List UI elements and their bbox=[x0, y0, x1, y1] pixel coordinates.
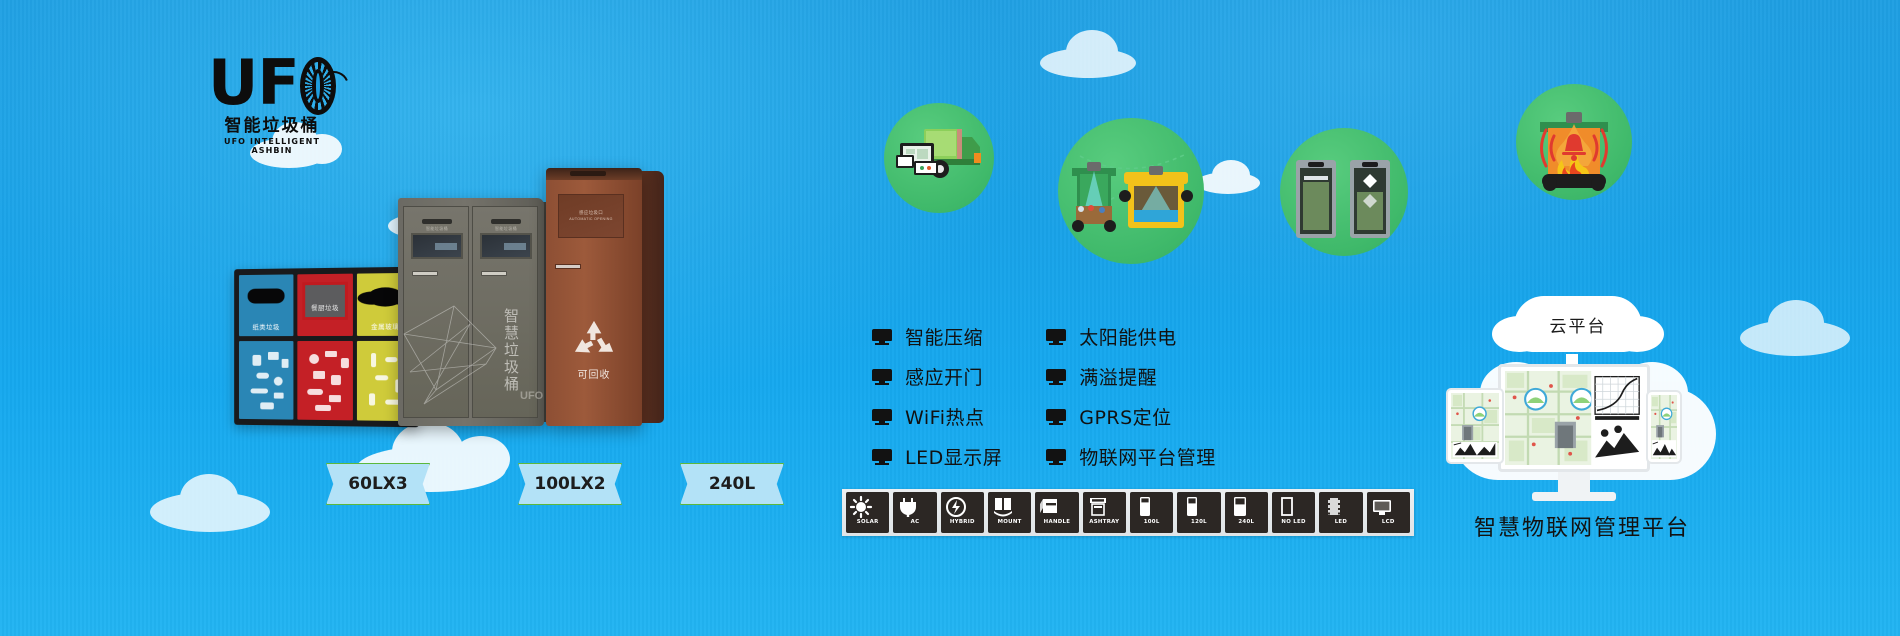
monitor-icon bbox=[872, 369, 892, 385]
fill-level-sensor-icon bbox=[1058, 118, 1204, 264]
compartment-top: 纸类垃圾 bbox=[239, 274, 293, 336]
bin-side-text: 智慧垃圾桶 bbox=[501, 308, 522, 393]
feature-column-right: 太阳能供电 满溢提醒 GPRS定位 物联网平台管理 bbox=[1046, 323, 1216, 470]
panel-caption-main: 感应垃圾口 bbox=[559, 209, 623, 216]
spec-label: LED bbox=[1335, 519, 1348, 526]
spec-label: 240L bbox=[1238, 519, 1254, 526]
smartphone-device bbox=[1646, 390, 1682, 464]
marketing-banner: UF 智能垃圾桶 UFO INTELLIGENT ASHBIN 纸类垃圾 bbox=[0, 0, 1900, 636]
spec-item-led[interactable]: LED bbox=[1319, 492, 1362, 533]
capacity-label-100lx2: 100LX2 bbox=[518, 463, 622, 505]
spec-item-lcd[interactable]: LCD bbox=[1367, 492, 1410, 533]
logo-letters: UF bbox=[208, 55, 299, 111]
feature-label: 智能压缩 bbox=[905, 323, 983, 350]
monitor-icon bbox=[1046, 329, 1066, 345]
recycle-label: 可回收 bbox=[546, 366, 642, 381]
spec-label: NO LED bbox=[1281, 519, 1305, 526]
spec-label: AC bbox=[911, 519, 920, 526]
feature-circle-compaction bbox=[1280, 128, 1408, 256]
ashtray-icon bbox=[1083, 495, 1126, 519]
monitor-icon bbox=[1046, 449, 1066, 465]
handle-icon bbox=[1035, 495, 1078, 519]
feature-list: 智能压缩 感应开门 WiFi热点 LED显示屏 太阳能供电 bbox=[872, 323, 1302, 470]
platform-caption: 智慧物联网管理平台 bbox=[1432, 510, 1732, 542]
led-display-icon bbox=[411, 233, 463, 259]
spec-icon-strip: SOLAR AC HYBRID bbox=[842, 489, 1414, 536]
desktop-monitor bbox=[1498, 364, 1650, 472]
feature-item: 物联网平台管理 bbox=[1046, 443, 1216, 470]
door-handle-icon bbox=[555, 264, 581, 269]
compartment-label: 餐厨垃圾 bbox=[297, 302, 353, 312]
feature-item: 感应开门 bbox=[872, 363, 1002, 390]
spec-label: MOUNT bbox=[998, 519, 1022, 526]
bin-compartment-paper: 纸类垃圾 bbox=[239, 274, 293, 419]
triple-bin-frame: 纸类垃圾 bbox=[234, 267, 419, 428]
compartment-top: 餐厨垃圾 bbox=[297, 274, 353, 336]
monitor-icon bbox=[1046, 409, 1066, 425]
sensor-panel: 感应垃圾口 AUTOMATIC OPENING bbox=[558, 194, 624, 238]
feature-column-left: 智能压缩 感应开门 WiFi热点 LED显示屏 bbox=[872, 323, 1002, 470]
waste-illustration bbox=[245, 349, 288, 412]
feature-circle-fleet-monitoring bbox=[884, 103, 994, 213]
bin-icon bbox=[1130, 495, 1173, 519]
phone-screen bbox=[1651, 395, 1677, 459]
blank-panel-icon bbox=[1272, 495, 1315, 519]
bin-icon bbox=[1225, 495, 1268, 519]
feature-item: LED显示屏 bbox=[872, 443, 1002, 470]
spec-item-100l[interactable]: 100L bbox=[1130, 492, 1173, 533]
spec-item-handle[interactable]: HANDLE bbox=[1035, 492, 1078, 533]
spec-label: ASHTRAY bbox=[1089, 519, 1119, 526]
feature-item: GPRS定位 bbox=[1046, 403, 1216, 430]
capacity-label-240l: 240L bbox=[680, 463, 784, 505]
cloud-platform-badge: 云平台 bbox=[1514, 296, 1642, 352]
fire-alarm-icon bbox=[1516, 84, 1632, 200]
cloud-platform-label: 云平台 bbox=[1550, 312, 1607, 337]
monitor-icon bbox=[872, 409, 892, 425]
bin-body: 智能垃圾桶 INTELLIGENT ASHBIN 智能垃圾桶 INTELLIGE… bbox=[398, 198, 544, 426]
recycle-icon bbox=[570, 318, 618, 362]
cap-lip-icon bbox=[570, 171, 606, 176]
spec-label: 100L bbox=[1144, 519, 1160, 526]
feature-label: 满溢提醒 bbox=[1079, 363, 1157, 390]
feature-label: 物联网平台管理 bbox=[1079, 443, 1216, 470]
feature-label: 太阳能供电 bbox=[1079, 323, 1177, 350]
feature-item: WiFi热点 bbox=[872, 403, 1002, 430]
sun-icon bbox=[846, 495, 889, 519]
compartment-graphic-panel bbox=[239, 341, 293, 420]
spec-item-hybrid[interactable]: HYBRID bbox=[941, 492, 984, 533]
door-handle-icon bbox=[481, 271, 507, 276]
feature-circle-fire-alarm bbox=[1516, 84, 1632, 200]
feature-item: 满溢提醒 bbox=[1046, 363, 1216, 390]
iot-platform-illustration: 云平台 bbox=[1432, 296, 1732, 546]
mount-icon bbox=[988, 495, 1031, 519]
spec-item-240l[interactable]: 240L bbox=[1225, 492, 1268, 533]
feature-label: LED显示屏 bbox=[905, 443, 1002, 470]
lcd-screen-icon bbox=[1367, 495, 1410, 519]
compartment-label: 纸类垃圾 bbox=[239, 321, 293, 331]
spec-item-120l[interactable]: 120L bbox=[1177, 492, 1220, 533]
logo-english-name: UFO INTELLIGENT ASHBIN bbox=[208, 137, 336, 155]
monitor-icon bbox=[1046, 369, 1066, 385]
bin-cap bbox=[546, 168, 642, 180]
led-display-icon bbox=[480, 233, 532, 259]
bin-side-panel bbox=[640, 171, 664, 423]
spec-item-no-led[interactable]: NO LED bbox=[1272, 492, 1315, 533]
feature-circle-fill-sensor bbox=[1058, 118, 1204, 264]
brand-badge: UFO bbox=[520, 390, 540, 410]
feature-label: GPRS定位 bbox=[1079, 403, 1171, 430]
spec-item-solar[interactable]: SOLAR bbox=[846, 492, 889, 533]
bin-body: 感应垃圾口 AUTOMATIC OPENING 可回收 bbox=[546, 168, 642, 426]
product-triple-bin: 纸类垃圾 bbox=[232, 268, 418, 426]
product-double-bin: 智能垃圾桶 INTELLIGENT ASHBIN 智能垃圾桶 INTELLIGE… bbox=[398, 198, 544, 426]
monitor-screen bbox=[1505, 371, 1643, 465]
vent-icon bbox=[422, 219, 452, 224]
product-single-bin: 感应垃圾口 AUTOMATIC OPENING 可回收 bbox=[546, 168, 642, 426]
bin-icon bbox=[1177, 495, 1220, 519]
spec-label: 120L bbox=[1191, 519, 1207, 526]
feature-label: WiFi热点 bbox=[905, 403, 984, 430]
spec-item-ashtray[interactable]: ASHTRAY bbox=[1083, 492, 1126, 533]
panel-caption-sub: AUTOMATIC OPENING bbox=[559, 216, 623, 223]
panel-caption: 感应垃圾口 AUTOMATIC OPENING bbox=[559, 209, 623, 223]
vent-icon bbox=[491, 219, 521, 224]
compartment-graphic-panel bbox=[297, 341, 353, 420]
plug-icon bbox=[893, 495, 936, 519]
bearing-ring-icon bbox=[300, 57, 336, 115]
monitor-stand bbox=[1558, 472, 1590, 494]
monitor-icon bbox=[872, 449, 892, 465]
feature-item: 智能压缩 bbox=[872, 323, 1002, 350]
logo-wordmark: UF bbox=[208, 55, 336, 115]
hybrid-icon bbox=[941, 495, 984, 519]
compaction-icon bbox=[1280, 128, 1408, 256]
brand-logo: UF 智能垃圾桶 UFO INTELLIGENT ASHBIN bbox=[208, 55, 336, 155]
door-handle-icon bbox=[412, 271, 438, 276]
capacity-label-60lx3: 60LX3 bbox=[326, 463, 430, 505]
waste-illustration bbox=[303, 349, 347, 412]
spec-item-mount[interactable]: MOUNT bbox=[988, 492, 1031, 533]
spec-label: SOLAR bbox=[857, 519, 879, 526]
spec-item-ac[interactable]: AC bbox=[893, 492, 936, 533]
feature-item: 太阳能供电 bbox=[1046, 323, 1216, 350]
spec-label: HANDLE bbox=[1044, 519, 1071, 526]
monitor-icon bbox=[872, 329, 892, 345]
tablet-device bbox=[1446, 388, 1504, 464]
monitor-base bbox=[1532, 492, 1616, 501]
spec-label: HYBRID bbox=[950, 519, 975, 526]
tablet-screen bbox=[1451, 393, 1499, 459]
spec-label: LCD bbox=[1382, 519, 1395, 526]
feature-label: 感应开门 bbox=[905, 363, 983, 390]
led-panel-icon bbox=[1319, 495, 1362, 519]
fleet-monitoring-icon bbox=[884, 103, 994, 213]
bin-compartment-kitchen: 餐厨垃圾 bbox=[297, 274, 353, 421]
waste-slot-icon bbox=[248, 288, 285, 303]
